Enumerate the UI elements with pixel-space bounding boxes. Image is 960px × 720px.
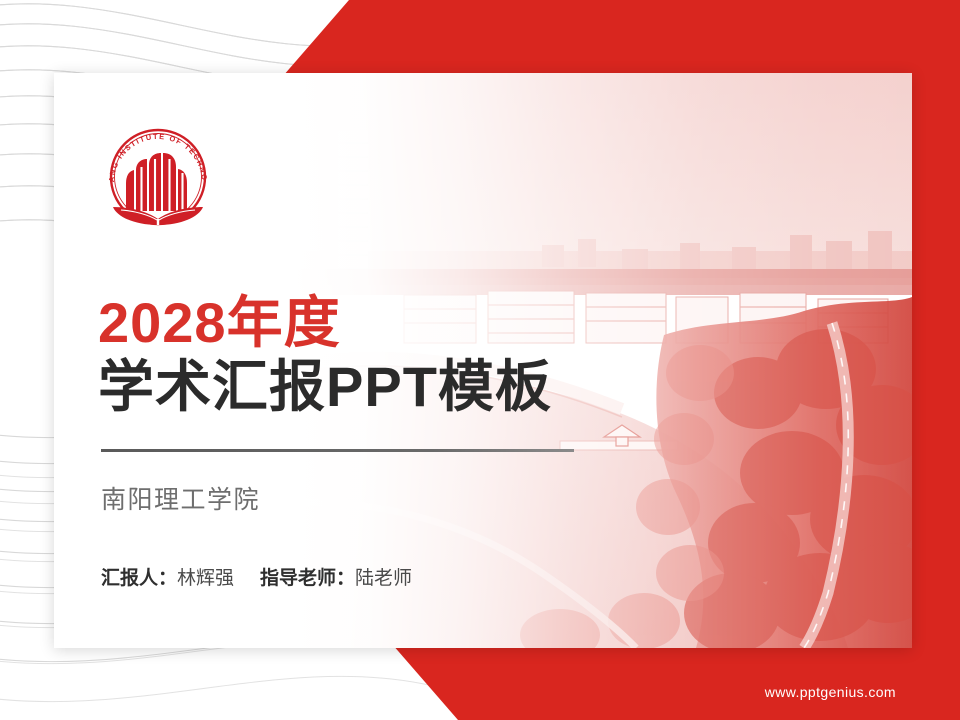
title-block: 2028年度 学术汇报PPT模板 南阳理工学院 汇报人：林辉强指导老师：陆老师 — [98, 293, 658, 590]
red-band-right — [910, 0, 960, 720]
presenter-label: 汇报人： — [101, 568, 177, 589]
page-title: 学术汇报PPT模板 — [98, 356, 658, 419]
title-divider — [101, 449, 574, 452]
school-name: 南阳理工学院 — [101, 480, 658, 516]
red-band-bottom — [0, 644, 960, 720]
advisor-name: 陆老师 — [355, 568, 412, 589]
presenter-name: 林辉强 — [177, 568, 234, 589]
presentation-slide: NANYANG INSTITUTE OF TECHNOLOGY — [0, 0, 960, 720]
footer-website-url[interactable]: www.pptgenius.com — [765, 684, 896, 700]
university-logo: NANYANG INSTITUTE OF TECHNOLOGY — [101, 115, 215, 229]
presenter-row: 汇报人：林辉强指导老师：陆老师 — [101, 563, 658, 590]
content-card: NANYANG INSTITUTE OF TECHNOLOGY — [54, 73, 912, 648]
advisor-label: 指导老师： — [260, 568, 355, 589]
red-band-top — [0, 0, 960, 76]
title-year: 2028年度 — [98, 293, 658, 352]
